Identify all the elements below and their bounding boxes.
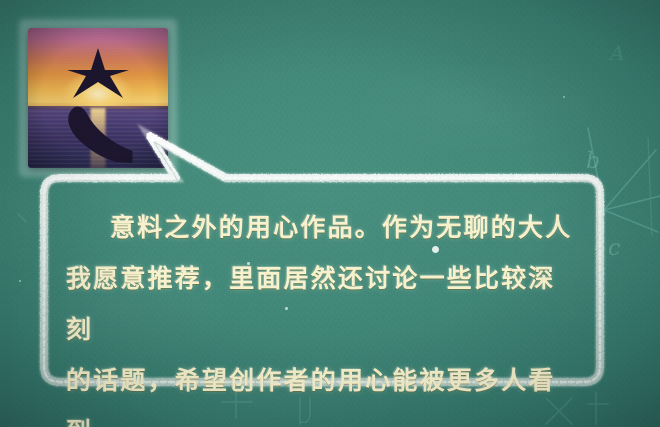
photo-vignette (28, 28, 168, 168)
photo-thumbnail[interactable] (24, 24, 172, 172)
quote-line-2: 我愿意推荐，里面居然还讨论一些比较深刻 (66, 264, 556, 344)
screenshot-root: b c A (0, 0, 660, 427)
photo-image (28, 28, 168, 168)
quote-text: 意料之外的用心作品。作为无聊的大人 我愿意推荐，里面居然还讨论一些比较深刻 的话… (66, 202, 576, 427)
quote-line-3: 的话题，希望创作者的用心能被更多人看到。 (66, 366, 556, 427)
quote-line-1: 意料之外的用心作品。作为无聊的大人 (66, 213, 572, 242)
